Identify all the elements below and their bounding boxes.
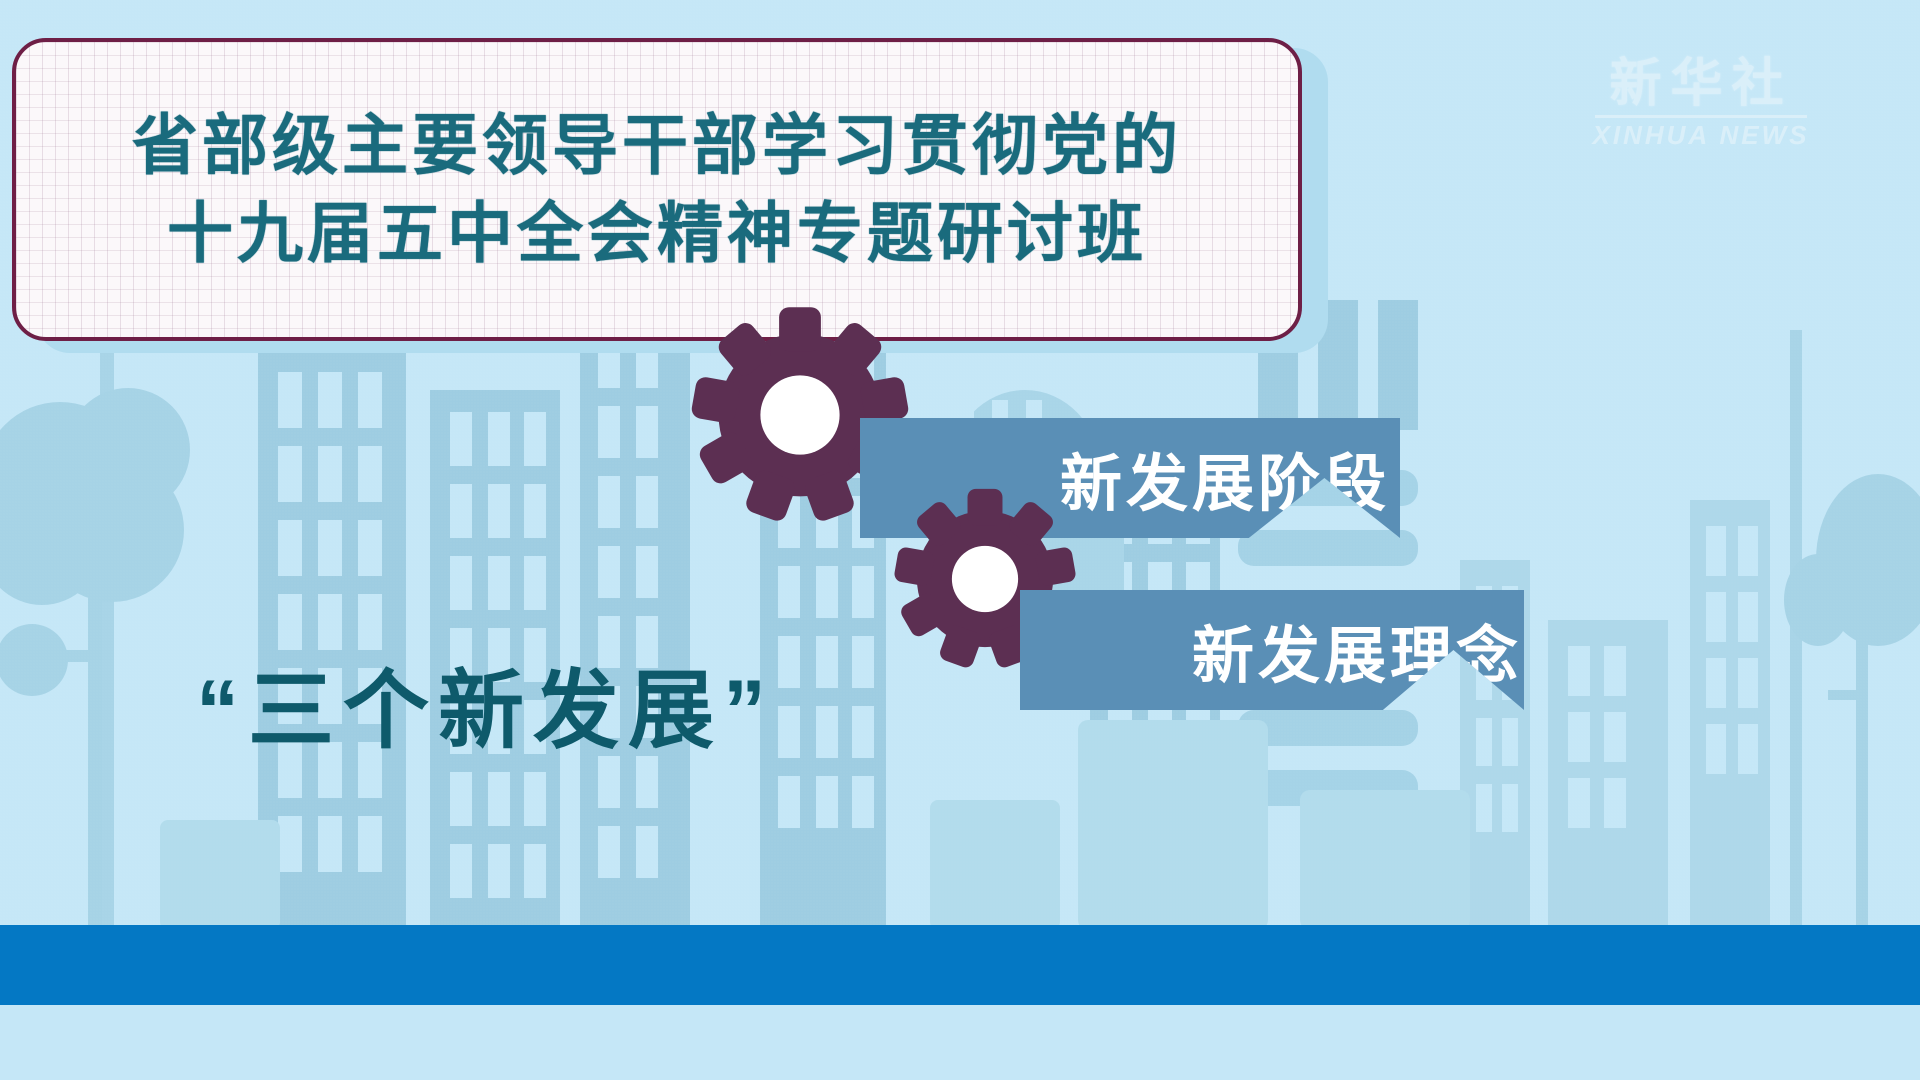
watermark-chinese: 新华社 bbox=[1586, 58, 1816, 110]
bottom-fill-area bbox=[0, 1005, 1920, 1080]
watermark-divider bbox=[1595, 115, 1807, 118]
title-line-1: 省部级主要领导干部学习贯彻党的 bbox=[132, 110, 1182, 181]
title-card: 省部级主要领导干部学习贯彻党的 十九届五中全会精神专题研讨班 bbox=[12, 38, 1302, 341]
poster-canvas: 省部级主要领导干部学习贯彻党的 十九届五中全会精神专题研讨班 新华社 XINHU… bbox=[0, 0, 1920, 1080]
watermark-english: XINHUA NEWS bbox=[1586, 122, 1816, 148]
xinhua-watermark: 新华社 XINHUA NEWS bbox=[1586, 58, 1816, 148]
headline-three-new-developments: “三个新发展” bbox=[196, 640, 775, 765]
title-line-2: 十九届五中全会精神专题研讨班 bbox=[167, 198, 1147, 269]
bottom-accent-bar bbox=[0, 925, 1920, 1005]
